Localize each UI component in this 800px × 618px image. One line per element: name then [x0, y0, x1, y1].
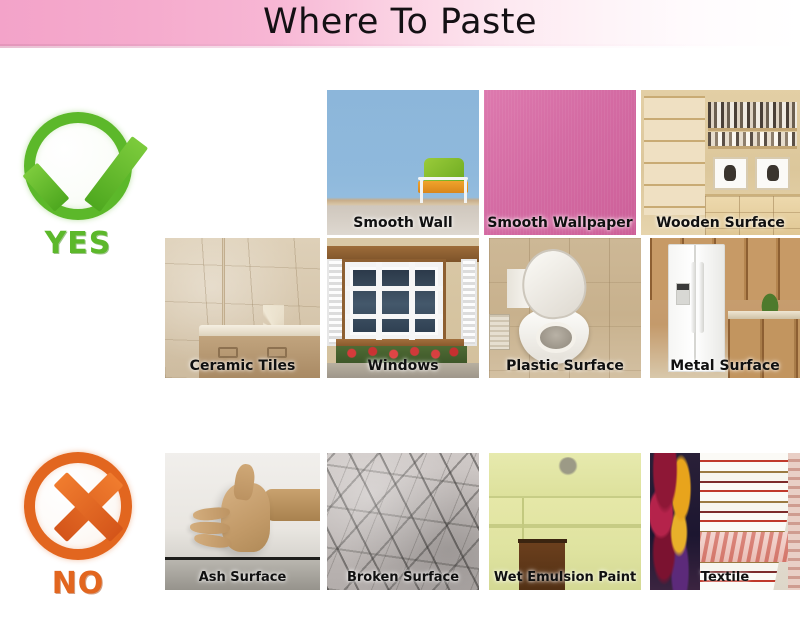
infographic-page: Where To Paste YES NO Smooth Wall Smooth…: [0, 0, 800, 618]
counter-top-shape: [199, 325, 320, 336]
tile-caption: Windows: [327, 354, 479, 378]
chair-leg-left-shape: [420, 180, 423, 203]
toilet-opening-shape: [536, 322, 576, 353]
chair-arm-shape: [418, 177, 468, 180]
check-circle-icon: [24, 112, 132, 220]
tile-plastic-surface: Plastic Surface: [489, 238, 641, 378]
window-transom-two-shape: [345, 314, 442, 319]
x-circle-icon: [24, 452, 132, 560]
chair-seat-shape: [418, 181, 468, 193]
window-transom-one-shape: [345, 286, 442, 291]
tile-caption: Smooth Wall: [327, 211, 479, 235]
tile-ash-surface: Ash Surface: [165, 453, 320, 590]
ceiling-light-shape: [556, 457, 580, 479]
tile-wet-emulsion-paint: Wet Emulsion Paint: [489, 453, 641, 590]
wood-lintel-shape: [327, 246, 479, 261]
picture-frame-left-shape: [713, 157, 748, 190]
fridge-handle-right-shape: [699, 262, 704, 333]
tile-wooden-surface: Wooden Surface: [641, 90, 800, 235]
embroidered-band-shape: [683, 532, 800, 562]
shutter-right-shape: [461, 259, 478, 346]
tile-caption: Textile: [650, 566, 800, 590]
check-stroke-short: [22, 163, 69, 212]
no-status-block: NO: [8, 452, 148, 601]
tile-caption: Plastic Surface: [489, 354, 641, 378]
tile-broken-surface: Broken Surface: [327, 453, 479, 590]
tile-caption: Wet Emulsion Paint: [489, 566, 641, 590]
tile-textile: Textile: [650, 453, 800, 590]
wall-band-shape: [489, 524, 641, 528]
tile-ceramic-tiles: Ceramic Tiles: [165, 238, 320, 378]
no-label: NO: [8, 566, 148, 601]
tile-windows: Windows: [327, 238, 479, 378]
picture-frame-right-shape: [755, 157, 790, 190]
yes-label: YES: [8, 226, 148, 261]
window-mullion-two-shape: [409, 262, 415, 340]
tile-metal-surface: Metal Surface: [650, 238, 800, 378]
toilet-lid-shape: [518, 245, 591, 323]
page-title: Where To Paste: [0, 0, 800, 46]
shower-pole-shape: [222, 238, 225, 330]
window-mullion-one-shape: [376, 262, 382, 340]
tile-smooth-wall: Smooth Wall: [327, 90, 479, 235]
bookshelf-left-shape: [644, 96, 704, 215]
tile-caption: Metal Surface: [650, 354, 800, 378]
tile-caption: Wooden Surface: [641, 211, 800, 235]
tile-caption: Ash Surface: [165, 566, 320, 590]
tile-caption: Broken Surface: [327, 566, 479, 590]
tile-caption: Smooth Wallpaper: [484, 211, 636, 235]
yes-status-block: YES: [8, 112, 148, 261]
check-stroke-long: [84, 136, 148, 212]
fridge-handle-left-shape: [691, 262, 696, 333]
window-frame-shape: [345, 262, 442, 340]
counter-plant-shape: [758, 288, 782, 310]
waste-basket-shape: [489, 314, 510, 350]
kitchen-counter-shape: [728, 311, 800, 319]
tile-caption: Ceramic Tiles: [165, 354, 320, 378]
chair-leg-right-shape: [464, 180, 467, 203]
ice-dispenser-shape: [676, 283, 690, 306]
wrist-shape: [264, 489, 320, 522]
shutter-left-shape: [327, 259, 344, 346]
books-row-top-shape: [708, 102, 797, 131]
finger-two-shape: [190, 521, 231, 535]
books-row-second-shape: [708, 132, 797, 149]
tile-smooth-wallpaper: Smooth Wallpaper: [484, 90, 636, 235]
